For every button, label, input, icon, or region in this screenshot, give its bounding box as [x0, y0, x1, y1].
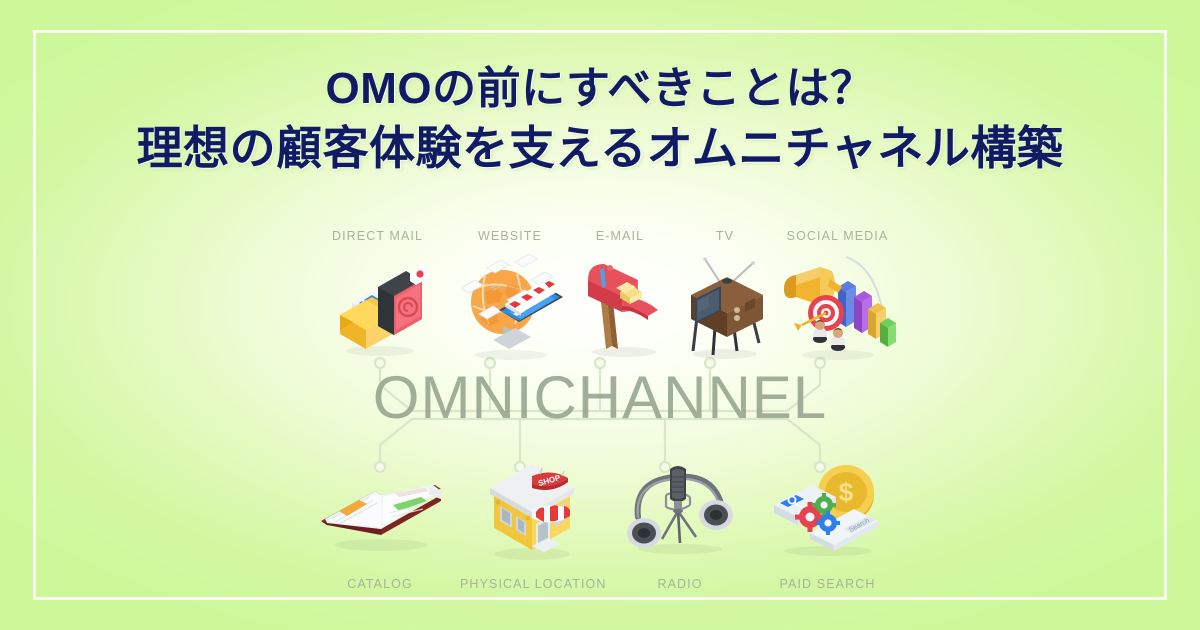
- page-title: OMOの前にすべきことは？ 理想の顧客体験を支えるオムニチャネル構築: [0, 60, 1200, 178]
- svg-text:$: $: [838, 477, 853, 507]
- top-channel-icons: AD: [300, 249, 900, 369]
- label-social-media: SOCIAL MEDIA: [775, 229, 900, 243]
- label-email: E-MAIL: [565, 229, 675, 243]
- icon-cell-direct-mail: AD: [300, 249, 455, 369]
- icon-cell-social-media: [775, 249, 900, 369]
- icon-cell-radio: [605, 449, 755, 569]
- label-direct-mail: DIRECT MAIL: [300, 229, 455, 243]
- red-mailbox-icon: [570, 256, 670, 362]
- label-catalog: CATALOG: [300, 577, 460, 591]
- omnichannel-title: OMNICHANNEL: [300, 363, 900, 432]
- top-channel-labels: DIRECT MAIL WEBSITE E-MAIL TV SOCIAL MED…: [300, 229, 900, 243]
- omnichannel-diagram: DIRECT MAIL WEBSITE E-MAIL TV SOCIAL MED…: [300, 215, 900, 595]
- headline-line-2: 理想の顧客体験を支えるオムニチャネル構築: [0, 118, 1200, 178]
- search-bar-coin-gears-icon: $ Search: [766, 457, 890, 561]
- label-paid-search: PAID SEARCH: [755, 577, 900, 591]
- omnichannel-banner: OMOの前にすべきことは？ 理想の顧客体験を支えるオムニチャネル構築: [0, 0, 1200, 630]
- icon-cell-email: [565, 249, 675, 369]
- icon-cell-physical-location: SHOP: [460, 449, 605, 569]
- open-book-icon: [317, 461, 443, 557]
- label-radio: RADIO: [605, 577, 755, 591]
- label-website: WEBSITE: [455, 229, 565, 243]
- globe-shop-monitor-icon: [455, 254, 565, 364]
- megaphone-target-chart-icon: [780, 253, 896, 365]
- retro-television-icon: [675, 255, 775, 363]
- yellow-shop-building-icon: SHOP: [476, 454, 590, 564]
- envelope-smartphone-icon: AD: [326, 257, 430, 361]
- microphone-headphones-icon: [622, 461, 738, 557]
- icon-cell-catalog: [300, 449, 460, 569]
- bottom-channel-icons: SHOP: [300, 449, 900, 569]
- icon-cell-paid-search: $ Search: [755, 449, 900, 569]
- label-physical-location: PHYSICAL LOCATION: [460, 577, 605, 591]
- bottom-channel-labels: CATALOG PHYSICAL LOCATION RADIO PAID SEA…: [300, 577, 900, 591]
- icon-cell-website: [455, 249, 565, 369]
- headline-line-1: OMOの前にすべきことは？: [0, 60, 1200, 118]
- icon-cell-tv: [675, 249, 775, 369]
- label-tv: TV: [675, 229, 775, 243]
